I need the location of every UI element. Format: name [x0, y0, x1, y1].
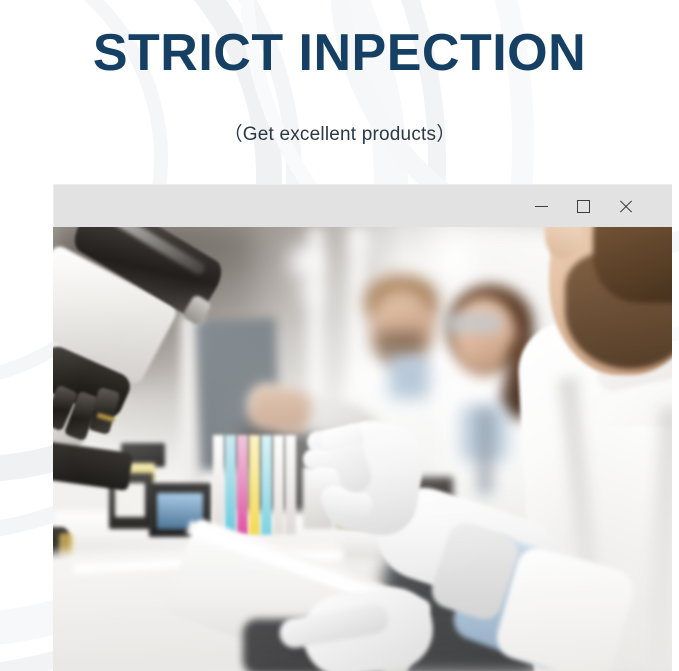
cartridge-strip-white-3 [285, 435, 296, 535]
bokeh-light-1 [289, 245, 323, 279]
cartridge-strip-cyan-2 [261, 435, 272, 535]
cartridge-strip-magenta [237, 435, 248, 535]
page-subtitle: （Get excellent products） [0, 81, 679, 146]
bokeh-light-3 [436, 241, 476, 281]
laboratory-photo [53, 227, 672, 671]
background-woman-lapel [477, 409, 493, 495]
cartridge-strip-cyan [225, 435, 236, 535]
cartridge-strip-white-2 [273, 435, 284, 535]
bokeh-light-5 [353, 231, 375, 253]
app-window [53, 184, 672, 671]
minimize-button[interactable] [530, 196, 552, 218]
page-title: STRICT INPECTION [0, 26, 679, 81]
background-woman-goggles [445, 313, 503, 333]
window-controls [530, 185, 636, 228]
close-icon [618, 199, 633, 214]
close-button[interactable] [614, 196, 636, 218]
background-colleague-collar [389, 355, 429, 399]
minimize-icon [535, 206, 548, 207]
maximize-icon [577, 200, 590, 213]
window-titlebar[interactable] [53, 184, 672, 227]
maximize-button[interactable] [572, 196, 594, 218]
heading-block: STRICT INPECTION （Get excellent products… [0, 26, 679, 146]
cartridge-strip-white-1 [213, 435, 224, 535]
bokeh-light-2 [299, 279, 325, 305]
page-root: STRICT INPECTION （Get excellent products… [0, 0, 679, 671]
cartridge-strip-yellow [249, 435, 260, 535]
